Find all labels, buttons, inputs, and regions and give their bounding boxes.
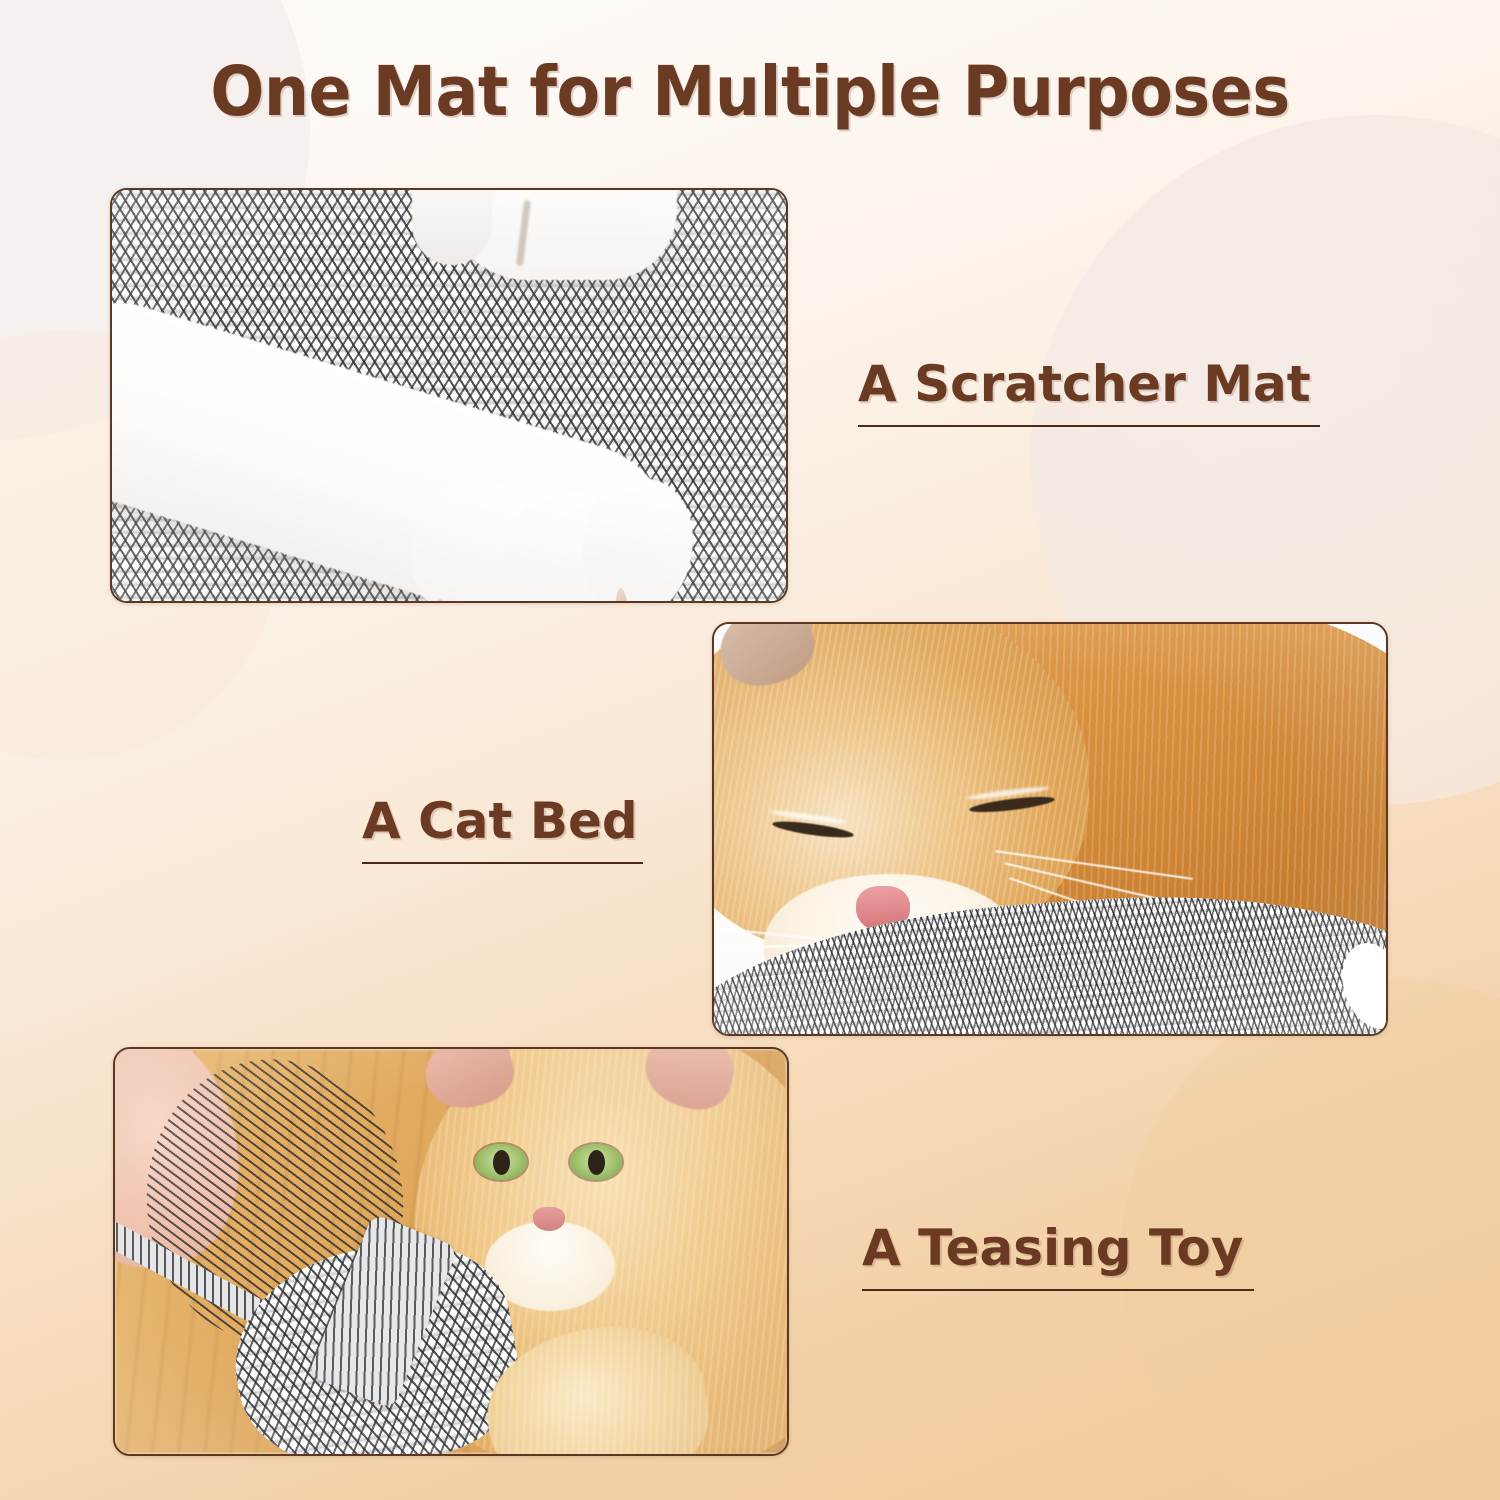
feature-photo-scratcher-mat (110, 188, 788, 603)
product-infographic: One Mat for Multiple Purposes A Scratche… (0, 0, 1500, 1500)
cat-pupil-right (588, 1150, 605, 1175)
feature-photo-teasing-toy (113, 1047, 789, 1456)
caption-underline-cat-bed (362, 862, 643, 864)
feature-caption-scratcher-mat: A Scratcher Mat (858, 358, 1320, 427)
photo-cat-bed (714, 624, 1386, 1034)
caption-label-scratcher-mat: A Scratcher Mat (858, 358, 1320, 411)
photo-scratcher-mat (112, 190, 786, 601)
caption-underline-teasing-toy (862, 1289, 1254, 1291)
caption-label-cat-bed: A Cat Bed (362, 795, 643, 848)
cat-nose (533, 1207, 565, 1231)
feature-caption-teasing-toy: A Teasing Toy (862, 1222, 1254, 1291)
cat-pupil-left (493, 1150, 510, 1175)
page-title: One Mat for Multiple Purposes (60, 52, 1440, 132)
photo-teasing-toy (115, 1049, 787, 1454)
caption-underline-scratcher-mat (858, 425, 1320, 427)
feature-caption-cat-bed: A Cat Bed (362, 795, 643, 864)
caption-label-teasing-toy: A Teasing Toy (862, 1222, 1254, 1275)
feature-photo-cat-bed (712, 622, 1388, 1036)
